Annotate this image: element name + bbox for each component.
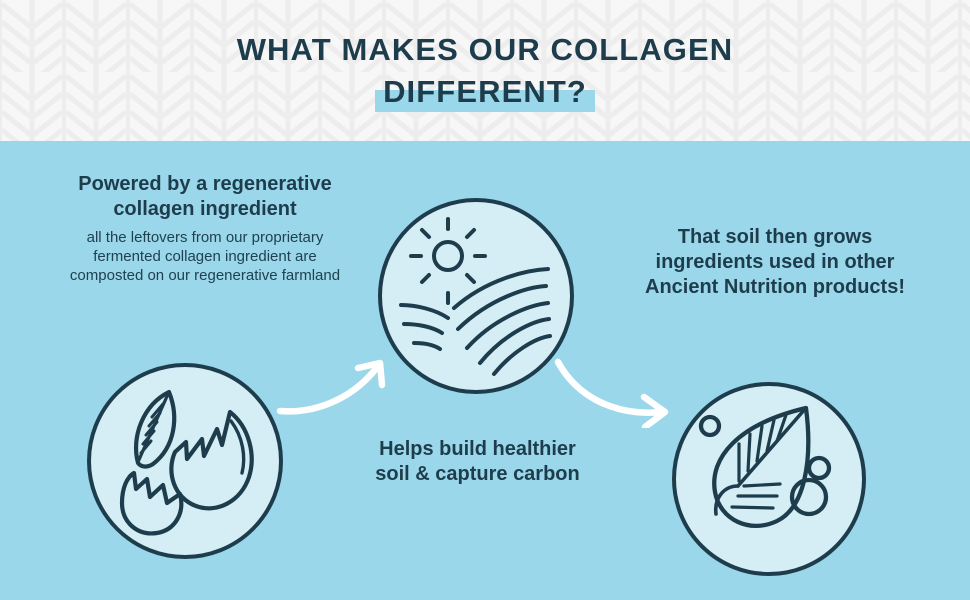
leaf-with-bubbles-icon [676,386,862,572]
step-1-text-block: Powered by a regenerative collagen ingre… [55,172,355,285]
cracked-egg-with-leaf-icon [91,367,279,555]
infographic-root: WHAT MAKES OUR COLLAGEN DIFFERENT? Power… [0,0,970,600]
header-band: WHAT MAKES OUR COLLAGEN DIFFERENT? [0,0,970,141]
title-line-2: DIFFERENT? [383,72,587,112]
step-3-text-block: That soil then grows ingredients used in… [640,225,910,300]
step-3-heading: That soil then grows ingredients used in… [640,225,910,300]
step-2-heading: Helps build healthier soil & capture car… [370,437,585,487]
step-3-icon-circle [672,382,866,576]
step-1-heading: Powered by a regenerative collagen ingre… [55,172,355,222]
step-2-icon-circle [378,198,574,394]
step-1-icon-circle [87,363,283,559]
page-title: WHAT MAKES OUR COLLAGEN DIFFERENT? [0,0,970,141]
step-2-text-block: Helps build healthier soil & capture car… [370,437,585,487]
title-line-1: WHAT MAKES OUR COLLAGEN [237,30,734,70]
step-1-body: all the leftovers from our proprietary f… [55,228,355,285]
sun-over-field-icon [382,202,570,390]
title-line-2-wrapper: DIFFERENT? [383,72,587,112]
curved-arrow-down-right-icon [548,348,678,428]
curved-arrow-up-right-icon [272,348,402,428]
